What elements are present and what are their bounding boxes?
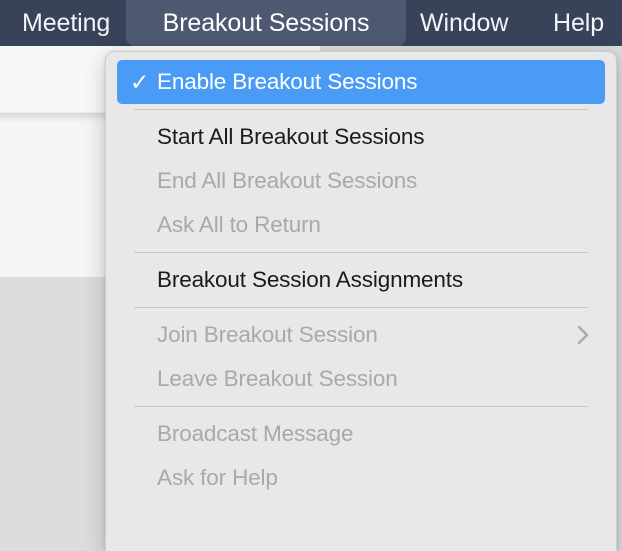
menu-separator — [134, 307, 588, 308]
menu-separator — [134, 406, 588, 407]
menu-item-label: Leave Breakout Session — [157, 366, 592, 392]
menu-item-join-breakout-session: Join Breakout Session — [117, 313, 605, 357]
breakout-sessions-dropdown-menu: ✓Enable Breakout SessionsStart All Break… — [105, 51, 617, 551]
menubar-item-help[interactable]: Help — [539, 0, 618, 46]
menu-item-breakout-session-assignments[interactable]: Breakout Session Assignments — [117, 258, 605, 302]
menu-item-broadcast-message: Broadcast Message — [117, 412, 605, 456]
menu-item-label: Enable Breakout Sessions — [157, 69, 592, 95]
menu-item-enable-breakout-sessions[interactable]: ✓Enable Breakout Sessions — [117, 60, 605, 104]
menu-item-label: Join Breakout Session — [157, 322, 592, 348]
checkmark-icon: ✓ — [130, 71, 157, 94]
menu-item-label: End All Breakout Sessions — [157, 168, 592, 194]
menu-item-label: Ask for Help — [157, 465, 592, 491]
menubar-item-window[interactable]: Window — [406, 0, 522, 46]
menu-item-leave-breakout-session: Leave Breakout Session — [117, 357, 605, 401]
menu-item-ask-all-to-return: Ask All to Return — [117, 203, 605, 247]
menu-item-list: ✓Enable Breakout SessionsStart All Break… — [106, 60, 616, 500]
menu-item-label: Breakout Session Assignments — [157, 267, 592, 293]
menu-separator — [134, 252, 588, 253]
menu-separator — [134, 109, 588, 110]
menubar-item-breakout-sessions[interactable]: Breakout Sessions — [126, 0, 406, 46]
menu-item-label: Broadcast Message — [157, 421, 592, 447]
menu-item-end-all-breakout-sessions: End All Breakout Sessions — [117, 159, 605, 203]
chevron-right-icon — [577, 325, 589, 345]
menu-item-ask-for-help: Ask for Help — [117, 456, 605, 500]
menu-item-label: Ask All to Return — [157, 212, 592, 238]
menu-item-label: Start All Breakout Sessions — [157, 124, 592, 150]
menu-top-padding — [106, 52, 616, 60]
menu-item-start-all-breakout-sessions[interactable]: Start All Breakout Sessions — [117, 115, 605, 159]
menu-bar: Meeting Breakout Sessions Window Help — [0, 0, 622, 46]
menubar-item-meeting[interactable]: Meeting — [8, 0, 124, 46]
